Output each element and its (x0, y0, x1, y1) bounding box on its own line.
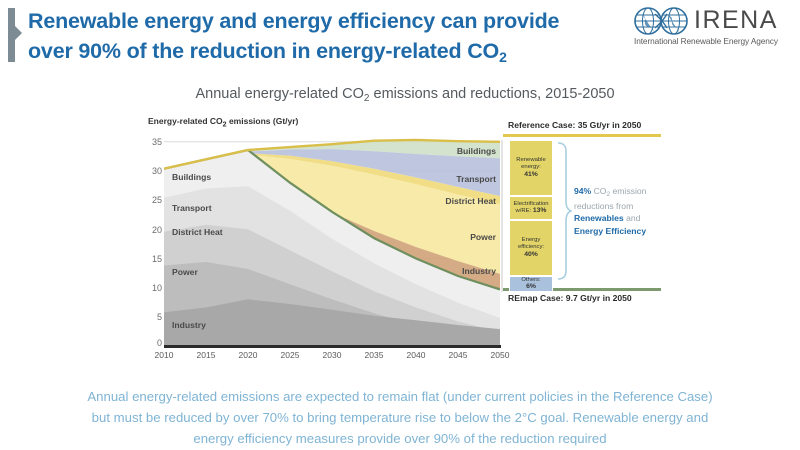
annotation-text-2: reductions from (574, 201, 633, 211)
chart-svg (164, 136, 500, 346)
y-tick-15: 15 (140, 254, 162, 264)
area-label-district-heat-right: District Heat (445, 196, 496, 206)
x-axis-line (164, 345, 501, 348)
annotation-co2-sub: 2 (606, 191, 610, 198)
y-tick-5: 5 (140, 312, 162, 322)
annotation-energy-efficiency: Energy Efficiency (574, 226, 646, 236)
segment-renewable-energy-text: Renewableenergy:41% (516, 157, 545, 178)
x-tick-2040: 2040 (396, 350, 436, 360)
y-axis-title-post: emissions (Gt/yr) (227, 116, 299, 126)
segment-electrification: Electrificationw/RE: 13% (509, 196, 553, 220)
annotation-text-1a: CO (591, 186, 606, 196)
caption-line-2: but must be reduced by over 70% to bring… (92, 410, 709, 425)
area-label-industry-right: Industry (462, 266, 496, 276)
x-tick-2035: 2035 (354, 350, 394, 360)
x-tick-2050: 2050 (480, 350, 520, 360)
title-accent-arrow-icon (15, 26, 22, 40)
x-tick-2010: 2010 (144, 350, 184, 360)
area-label-district-heat-left: District Heat (172, 227, 223, 237)
page-title: Renewable energy and energy efficiency c… (28, 6, 648, 68)
segment-energy-efficiency: Energyefficiency:40% (509, 220, 553, 276)
area-label-buildings-right: Buildings (457, 146, 496, 156)
segment-renewable-energy: Renewableenergy:41% (509, 140, 553, 196)
annotation-renewables: Renewables (574, 213, 624, 223)
chart-subtitle-post: emissions and reductions, 2015-2050 (369, 86, 614, 102)
irena-logo: IRENA International Renewable Energy Age… (632, 4, 792, 52)
area-label-power-right: Power (470, 232, 496, 242)
area-label-transport-left: Transport (172, 203, 212, 213)
segment-energy-efficiency-value: 40% (524, 251, 538, 258)
area-label-industry-left: Industry (172, 320, 206, 330)
caption-line-3: energy efficiency measures provide over … (193, 431, 606, 446)
annotation-and: and (624, 213, 641, 223)
chart-subtitle-pre: Annual energy-related CO (195, 86, 363, 102)
y-axis-title-pre: Energy-related CO (148, 116, 223, 126)
y-tick-30: 30 (140, 166, 162, 176)
remap-case-label: REmap Case: 9.7 Gt/yr in 2050 (508, 293, 632, 303)
page-title-line2: over 90% of the reduction in energy-rela… (28, 39, 499, 63)
slide-caption: Annual energy-related emissions are expe… (14, 386, 786, 449)
stack-connector (500, 140, 504, 292)
x-tick-2020: 2020 (228, 350, 268, 360)
chart-subtitle: Annual energy-related CO2 emissions and … (145, 86, 665, 102)
segment-energy-efficiency-text: Energyefficiency:40% (518, 237, 544, 258)
area-label-buildings-left: Buildings (172, 172, 211, 182)
y-tick-25: 25 (140, 195, 162, 205)
page-title-subscript: 2 (499, 49, 507, 65)
reduction-annotation: 94% CO2 emission reductions from Renewab… (574, 185, 684, 237)
title-accent-bar (8, 8, 15, 62)
caption-line-1: Annual energy-related emissions are expe… (87, 389, 712, 404)
annotation-percent: 94% (574, 186, 591, 196)
slide-header: Renewable energy and energy efficiency c… (0, 0, 800, 78)
irena-globe-icon (632, 6, 692, 36)
reference-case-label: Reference Case: 35 Gt/yr in 2050 (508, 120, 641, 130)
reference-case-rule (503, 134, 661, 137)
y-tick-10: 10 (140, 283, 162, 293)
irena-tagline: International Renewable Energy Agency (634, 36, 778, 46)
reduction-breakdown-stack: Renewableenergy:41% Electrificationw/RE:… (509, 140, 553, 292)
curly-brace-icon (556, 141, 572, 281)
area-label-transport-right: Transport (456, 174, 496, 184)
emissions-area-chart: Buildings Transport District Heat Power … (164, 136, 500, 346)
segment-renewable-energy-value: 41% (524, 171, 538, 178)
y-axis-title: Energy-related CO2 emissions (Gt/yr) (148, 116, 298, 129)
chart-subtitle-sub: 2 (364, 93, 370, 104)
segment-others: Others:6% (509, 276, 553, 292)
y-tick-20: 20 (140, 225, 162, 235)
segment-others-text: Others:6% (521, 277, 540, 292)
segment-electrification-text: Electrificationw/RE: 13% (513, 201, 548, 216)
y-tick-35: 35 (140, 137, 162, 147)
annotation-text-1b: emission (610, 186, 646, 196)
slide-root: Renewable energy and energy efficiency c… (0, 0, 800, 450)
y-tick-0: 0 (140, 338, 162, 348)
segment-electrification-value: 13% (533, 207, 547, 214)
area-label-power-left: Power (172, 267, 198, 277)
segment-others-value: 6% (526, 283, 536, 290)
x-tick-2015: 2015 (186, 350, 226, 360)
page-title-line1: Renewable energy and energy efficiency c… (28, 9, 559, 33)
irena-wordmark: IRENA (694, 6, 778, 35)
x-tick-2030: 2030 (312, 350, 352, 360)
x-tick-2045: 2045 (438, 350, 478, 360)
x-tick-2025: 2025 (270, 350, 310, 360)
